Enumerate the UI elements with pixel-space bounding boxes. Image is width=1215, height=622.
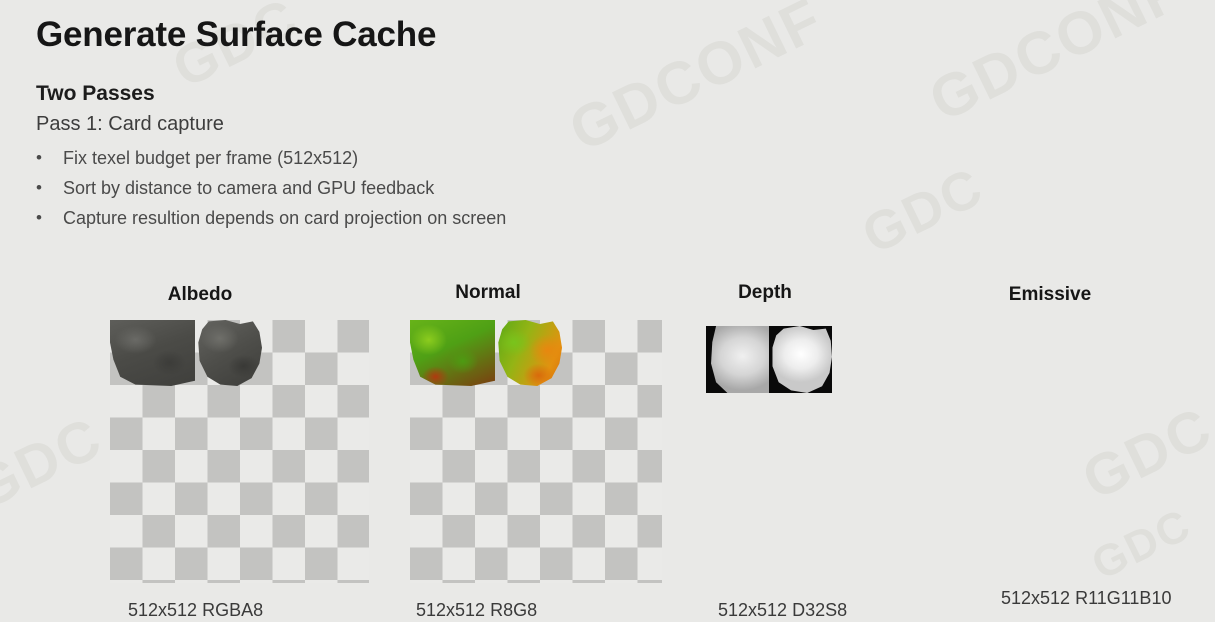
depth-atlas [706, 326, 832, 393]
list-item-label: Sort by distance to camera and GPU feedb… [63, 173, 434, 203]
depth-card-sprite-1 [706, 326, 769, 393]
section-heading: Two Passes [36, 82, 155, 106]
bullet-list: • Fix texel budget per frame (512x512) •… [36, 143, 796, 233]
list-item: • Capture resultion depends on card proj… [36, 203, 796, 233]
column-format-emissive: 512x512 R11G11B10 [1001, 588, 1171, 609]
list-item-label: Fix texel budget per frame (512x512) [63, 143, 358, 173]
bullet-point-icon: • [36, 173, 63, 203]
column-header-normal: Normal [398, 282, 578, 304]
column-header-emissive: Emissive [975, 284, 1125, 306]
normal-card-sprite-1 [410, 320, 495, 386]
normal-atlas [410, 320, 662, 583]
column-header-depth: Depth [690, 282, 840, 304]
normal-card-sprite-2 [497, 320, 562, 386]
pass-label: Pass 1: Card capture [36, 113, 224, 136]
depth-card-sprite-2 [770, 326, 832, 393]
slide-content: Generate Surface Cache Two Passes Pass 1… [0, 0, 1215, 622]
list-item-label: Capture resultion depends on card projec… [63, 203, 506, 233]
albedo-atlas [110, 320, 369, 583]
albedo-card-sprite-1 [110, 320, 195, 386]
albedo-card-sprite-2 [197, 320, 262, 386]
list-item: • Fix texel budget per frame (512x512) [36, 143, 796, 173]
bullet-point-icon: • [36, 203, 63, 233]
bullet-point-icon: • [36, 143, 63, 173]
column-header-albedo: Albedo [110, 284, 290, 306]
list-item: • Sort by distance to camera and GPU fee… [36, 173, 796, 203]
column-format-normal: 512x512 R8G8 [416, 600, 537, 621]
column-format-albedo: 512x512 RGBA8 [128, 600, 263, 621]
slide-title: Generate Surface Cache [36, 15, 436, 55]
column-format-depth: 512x512 D32S8 [718, 600, 847, 621]
